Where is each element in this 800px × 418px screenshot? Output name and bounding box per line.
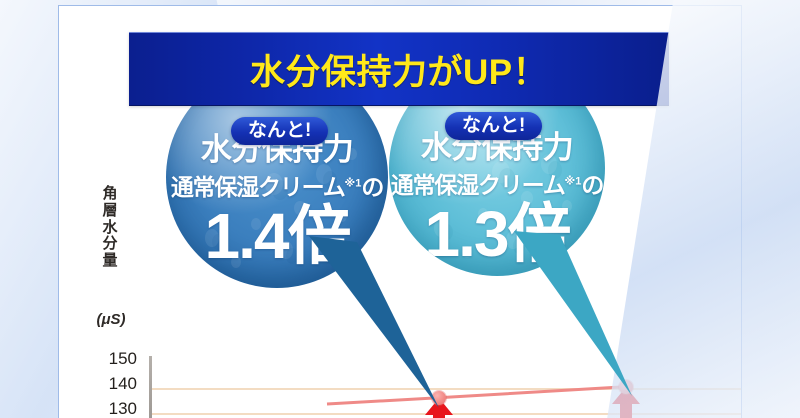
bubble-left-line2-main: 通常保湿クリーム — [171, 174, 345, 200]
infographic-stage: 角層水分量 (μS) 150 140 130 — [0, 0, 800, 418]
badge-left: なんと! — [231, 117, 328, 145]
header-banner: 水分保持力がUP！ — [129, 32, 669, 106]
badge-right: なんと! — [445, 112, 542, 140]
bubble-tail-right — [514, 231, 674, 401]
bubble-left-line2-tail: の — [361, 174, 383, 200]
bubble-tail-left — [309, 236, 469, 411]
bubble-right-line2-main: 通常保湿クリーム — [391, 172, 565, 198]
header-banner-title: 水分保持力がUP！ — [250, 44, 548, 95]
bubble-left-line2: 通常保湿クリーム※1の — [171, 168, 383, 202]
bubble-left-line2-sup: ※1 — [345, 177, 362, 189]
bubble-right-line2-sup: ※1 — [565, 175, 582, 187]
bubble-right-line2: 通常保湿クリーム※1の — [391, 166, 603, 200]
content-card: 角層水分量 (μS) 150 140 130 — [58, 5, 742, 418]
bubble-right-line2-tail: の — [581, 172, 603, 198]
